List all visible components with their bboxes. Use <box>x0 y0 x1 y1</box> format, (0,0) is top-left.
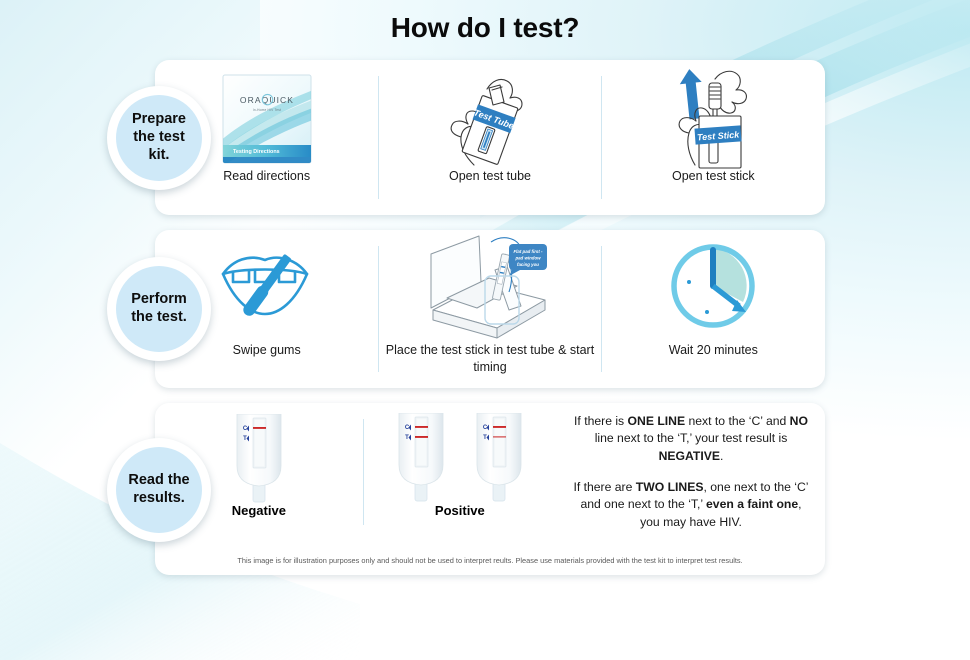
mouth-swab-icon <box>215 230 319 342</box>
step-badge-prepare: Prepare the test kit. <box>107 86 211 190</box>
step-2-columns: Swipe gums <box>155 230 825 388</box>
neg-text-2: next to the ‘C’ and <box>685 414 790 428</box>
negative-test-stick-icon: C T <box>228 403 290 503</box>
step-2-caption-2: Place the test stick in test tube & star… <box>378 342 601 376</box>
svg-text:In-Home HIV Test: In-Home HIV Test <box>253 108 281 112</box>
hands-open-test-tube-icon: Test Tube <box>430 60 550 168</box>
svg-text:pad window: pad window <box>514 256 541 261</box>
step-2-caption-3: Wait 20 minutes <box>669 342 758 359</box>
test-stick-in-tube-icon: Flat pad first - pad window facing you <box>421 230 559 342</box>
results-explanation: If there is ONE LINE next to the ‘C’ and… <box>557 403 825 541</box>
step-1-caption-3: Open test stick <box>672 168 755 185</box>
neg-text-4: . <box>720 449 723 463</box>
svg-text:facing you: facing you <box>517 262 539 267</box>
disclaimer-text: This image is for illustration purposes … <box>155 556 825 565</box>
clock-icon <box>667 230 759 342</box>
step-badge-perform: Perform the test. <box>107 257 211 361</box>
page-title: How do I test? <box>0 12 970 44</box>
pos-bold-1: TWO LINES <box>636 480 704 494</box>
svg-text:Flat pad first -: Flat pad first - <box>513 249 543 254</box>
svg-text:T: T <box>405 435 409 441</box>
step-panel-perform: Swipe gums <box>155 230 825 388</box>
step-badge-prepare-label: Prepare the test kit. <box>116 95 202 181</box>
step-2-item-2[interactable]: Flat pad first - pad window facing you P… <box>378 230 601 388</box>
step-badge-perform-label: Perform the test. <box>116 266 202 352</box>
step-badge-results: Read the results. <box>107 438 211 542</box>
negative-explanation: If there is ONE LINE next to the ‘C’ and… <box>573 413 809 465</box>
result-positive[interactable]: C T C T Positive <box>363 403 557 541</box>
hands-open-test-stick-icon: Test Stick <box>651 60 775 168</box>
step-2-item-3[interactable]: Wait 20 minutes <box>602 230 825 388</box>
step-panel-prepare: ORAQUICK In-Home HIV Test Testing Direct… <box>155 60 825 215</box>
step-2-caption-1: Swipe gums <box>233 342 301 359</box>
result-positive-caption: Positive <box>435 503 485 518</box>
step-1-caption-1: Read directions <box>223 168 310 185</box>
positive-explanation: If there are TWO LINES, one next to the … <box>573 479 809 531</box>
neg-text-1: If there is <box>574 414 628 428</box>
neg-text-3: line next to the ‘T,’ your test result i… <box>595 431 788 445</box>
positive-test-sticks-icon: C T C T <box>390 403 530 503</box>
svg-text:ORAQUICK: ORAQUICK <box>240 95 294 105</box>
step-panel-results: C T Negative C T <box>155 403 825 575</box>
neg-bold-2: NO <box>790 414 808 428</box>
svg-text:Testing Directions: Testing Directions <box>233 149 280 155</box>
svg-text:T: T <box>243 436 247 442</box>
step-3-columns: C T Negative C T <box>155 403 825 541</box>
step-1-caption-2: Open test tube <box>449 168 531 185</box>
pos-text-1: If there are <box>573 480 635 494</box>
step-badge-results-label: Read the results. <box>116 447 202 533</box>
step-1-columns: ORAQUICK In-Home HIV Test Testing Direct… <box>155 60 825 215</box>
oraquick-box-icon: ORAQUICK In-Home HIV Test Testing Direct… <box>221 60 313 168</box>
result-negative-caption: Negative <box>232 503 286 518</box>
pos-bold-2: even a faint one <box>706 497 798 511</box>
step-1-item-2[interactable]: Test Tube Open test tube <box>378 60 601 215</box>
neg-bold-3: NEGATIVE <box>659 449 720 463</box>
neg-bold-1: ONE LINE <box>628 414 686 428</box>
step-1-item-3[interactable]: Test Stick Open test stick <box>602 60 825 215</box>
svg-text:T: T <box>483 435 487 441</box>
